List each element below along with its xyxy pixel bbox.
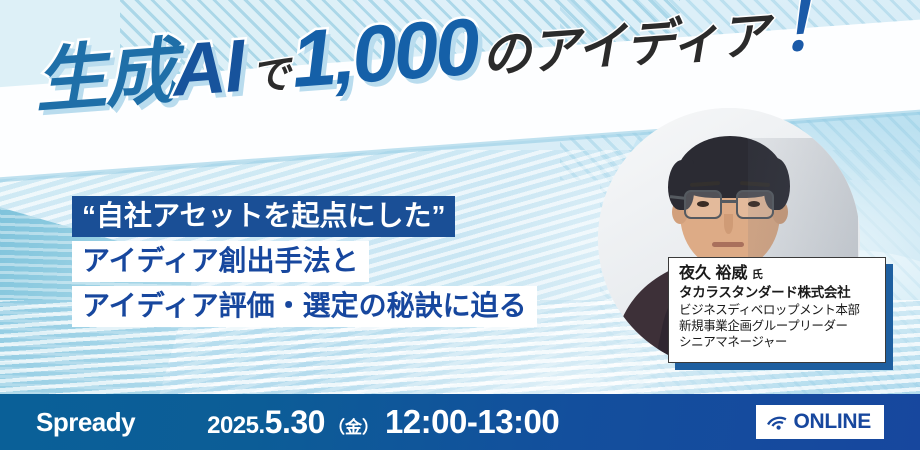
subtitle-group: “自社アセットを起点にした” アイディア創出手法と アイディア評価・選定の秘訣に… [72, 196, 537, 331]
headline-part-seisei: 生成 [30, 12, 177, 127]
subtitle-row-1: “自社アセットを起点にした” [72, 196, 537, 237]
subtitle-row-3: アイディア評価・選定の秘訣に迫る [72, 286, 537, 327]
subtitle-bar-3: アイディア評価・選定の秘訣に迫る [72, 286, 537, 327]
photo-nose [724, 214, 733, 234]
event-datetime: 2025. 5.30 （金） 12:00-13:00 [207, 403, 559, 441]
speaker-company: タカラスタンダード株式会社 [679, 285, 876, 302]
headline-part-ai: AI [169, 23, 247, 113]
speaker-detail-2: 新規事業企画グループリーダー [679, 318, 876, 334]
headline-part-number: 1,000 [288, 1, 479, 106]
photo-eye-left [697, 201, 709, 207]
online-badge: ONLINE [756, 405, 884, 439]
event-day-of-week: （金） [328, 413, 379, 438]
speaker-name-row: 夜久 裕威 氏 [679, 265, 876, 283]
speaker-detail-1: ビジネスディベロップメント本部 [679, 302, 876, 318]
event-year: 2025. [207, 412, 265, 440]
event-time: 12:00-13:00 [385, 403, 559, 441]
subtitle-bar-1: “自社アセットを起点にした” [72, 196, 455, 237]
headline-part-de: で [249, 41, 293, 102]
brand-logo[interactable]: Spready [36, 407, 135, 438]
online-label: ONLINE [793, 410, 871, 434]
speaker-detail-3: シニアマネージャー [679, 334, 876, 350]
photo-mouth [712, 242, 744, 247]
subtitle-bar-2: アイディア創出手法と [72, 241, 369, 282]
speaker-name: 夜久 裕威 [679, 265, 747, 282]
photo-glasses-bridge [722, 200, 736, 203]
wifi-icon [764, 410, 790, 433]
event-month-day: 5.30 [265, 404, 325, 441]
headline-part-exclamation: ！ [774, 0, 851, 72]
subtitle-row-2: アイディア創出手法と [72, 241, 537, 282]
webinar-banner: 生成 AI で 1,000 のアイディア ！ “自社アセットを起点にした” アイ… [0, 0, 920, 450]
speaker-name-suffix: 氏 [752, 269, 763, 281]
speaker-card: 夜久 裕威 氏 タカラスタンダード株式会社 ビジネスディベロップメント本部 新規… [668, 257, 886, 363]
